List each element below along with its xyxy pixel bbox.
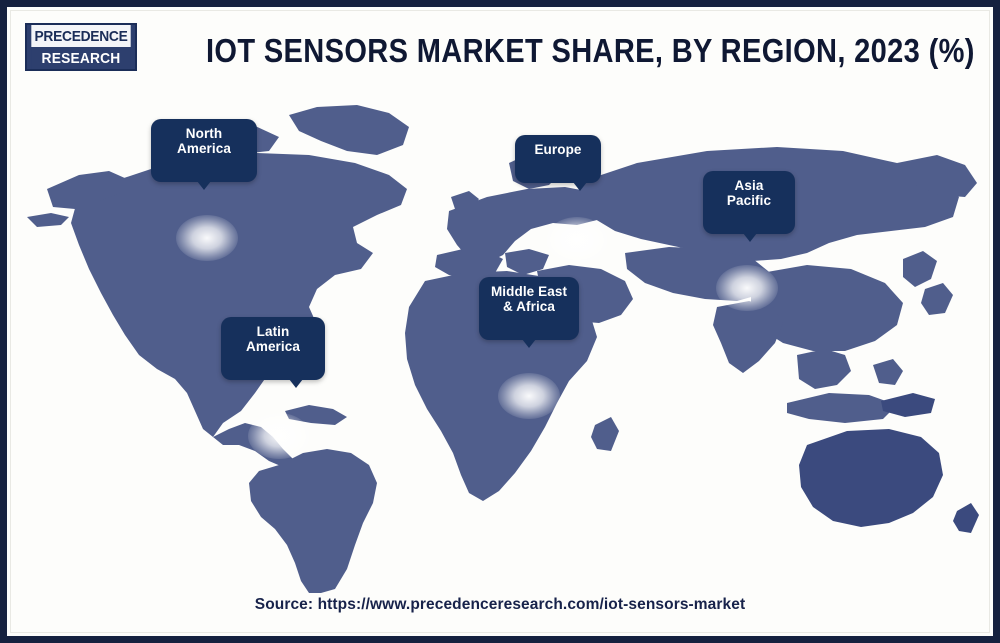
callout-asia-pacific[interactable]: Asia Pacific (703, 171, 795, 234)
source-url[interactable]: Source: https://www.precedenceresearch.c… (7, 596, 993, 614)
page-title: IOT SENSORS MARKET SHARE, BY REGION, 202… (206, 27, 924, 75)
indonesia-shape (787, 393, 897, 423)
philippines-shape (873, 359, 903, 385)
korea-japan-shape (903, 251, 937, 287)
central-america-shape (213, 423, 293, 467)
new-guinea-shape (881, 393, 935, 417)
callout-tail (573, 182, 587, 191)
greenland-shape (289, 105, 409, 155)
callout-value (714, 210, 784, 226)
south-america-shape (249, 449, 377, 593)
callout-value (526, 159, 590, 175)
precedence-research-logo: PRECEDENCE RESEARCH (25, 23, 137, 71)
new-zealand-shape (953, 503, 979, 533)
callout-middle-east-africa[interactable]: Middle East & Africa (479, 277, 579, 340)
madagascar-shape (591, 417, 619, 451)
callout-tail (197, 181, 211, 190)
australia-shape (799, 429, 943, 527)
logo-line-research: RESEARCH (31, 47, 130, 69)
callout-label-line1: North (162, 126, 246, 141)
callout-value (162, 158, 246, 174)
callout-north-america[interactable]: North America (151, 119, 257, 182)
callout-tail (289, 379, 303, 388)
header: PRECEDENCE RESEARCH IOT SENSORS MARKET S… (7, 7, 993, 93)
callout-label-line1: Latin (232, 324, 314, 339)
callout-label-line2: & Africa (490, 299, 568, 314)
logo-line-precedence: PRECEDENCE (31, 25, 130, 47)
aleutian-islands-shape (27, 213, 69, 227)
callout-tail (743, 233, 757, 242)
world-map: North America Europe (17, 93, 997, 593)
callout-tail (522, 339, 536, 348)
callout-label-line2: America (162, 141, 246, 156)
callout-label-line1: Europe (526, 142, 590, 157)
india-shape (713, 301, 783, 373)
caribbean-shape (285, 405, 347, 425)
north-america-shape (71, 153, 407, 437)
japan-shape (921, 283, 953, 315)
callout-label-line2: America (232, 339, 314, 354)
callout-value (490, 316, 568, 332)
callout-europe[interactable]: Europe (515, 135, 601, 183)
callout-label-line2: Pacific (714, 193, 784, 208)
callout-label-line1: Asia (714, 178, 784, 193)
callout-label-line1: Middle East (490, 284, 568, 299)
callout-latin-america[interactable]: Latin America (221, 317, 325, 380)
southeast-asia-shape (797, 349, 851, 389)
infographic-root: PRECEDENCE RESEARCH IOT SENSORS MARKET S… (0, 0, 1000, 643)
callout-value (232, 356, 314, 372)
